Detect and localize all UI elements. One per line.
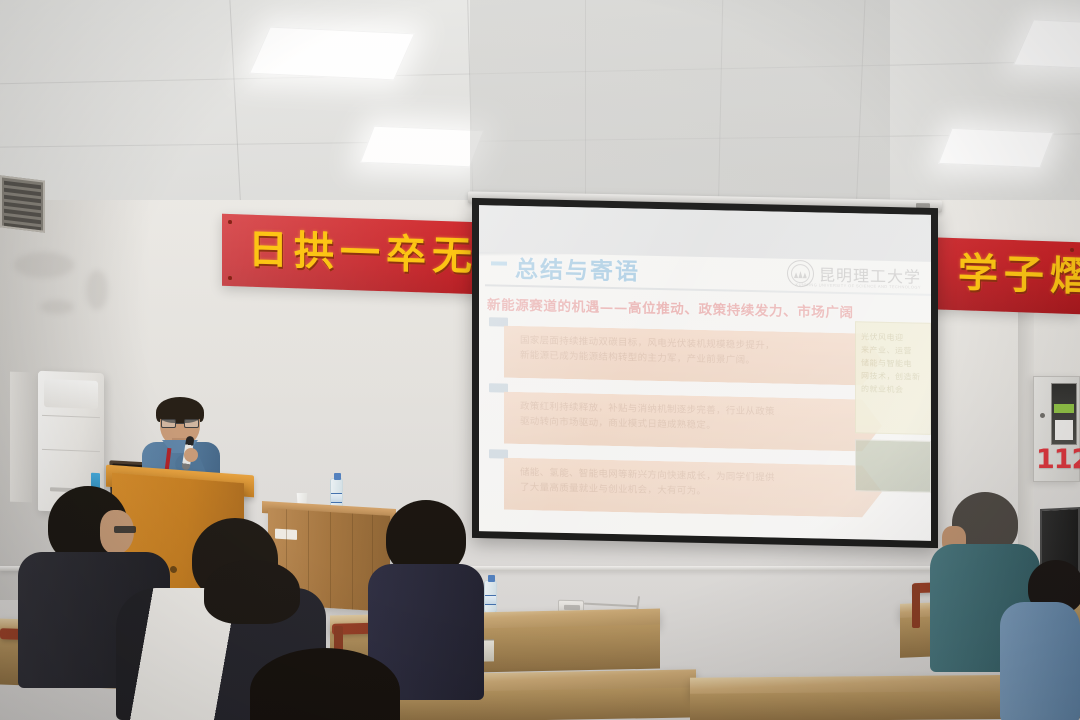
title-accent-dash xyxy=(491,261,507,265)
audience-far-right xyxy=(1000,560,1080,720)
bullet-tag-1 xyxy=(489,317,508,326)
side-note-line: 的就业机会 xyxy=(861,382,925,396)
room-number-label: 1122 xyxy=(1036,444,1080,475)
lecture-hall-scene: 1122 日拱一卒无有尽，功不唐捐终入海 学子熠熠生辉！ 总结与寄语 昆明理工大… xyxy=(0,0,1080,720)
alarm-knob-icon xyxy=(1040,413,1045,418)
ceiling xyxy=(0,0,1080,215)
slide-subtitle: 新能源赛道的机遇——高位推动、政策持续发力、市场广阔 xyxy=(487,293,931,323)
chair-post xyxy=(912,584,920,628)
slide-side-note: 光伏风电迎 来产业、运营 储能与智能电 网技术，创造新 的就业机会 xyxy=(855,321,931,435)
wall-vent-icon xyxy=(0,175,45,233)
water-bottle xyxy=(484,580,497,614)
bullet-chevron-1: 国家层面持续推动双碳目标，风电光伏装机规模稳步提升， 新能源已成为能源结构转型的… xyxy=(504,326,882,386)
bullet-tag-2 xyxy=(489,383,508,392)
bullet-tag-3 xyxy=(489,449,508,458)
projection-screen: 总结与寄语 昆明理工大学 KUNMING UNIVERSITY OF SCIEN… xyxy=(472,198,938,548)
alarm-display xyxy=(1051,383,1077,445)
bullet-chevron-3: 储能、氢能、智能电网等新兴方向快速成长，为同学们提供 了大量高质量就业与创业机会… xyxy=(504,458,882,518)
audience-bottom xyxy=(250,648,400,720)
bullet-chevron-2: 政策红利持续释放，补贴与消纳机制逐步完善，行业从政策 驱动转向市场驱动，商业模式… xyxy=(504,392,882,452)
ac-duct xyxy=(10,372,32,503)
eyeglasses-icon xyxy=(161,419,199,428)
presentation-slide: 总结与寄语 昆明理工大学 KUNMING UNIVERSITY OF SCIEN… xyxy=(479,205,931,541)
ceiling-light-2 xyxy=(360,126,484,168)
ceiling-light-1 xyxy=(249,27,415,81)
ceiling-light-4 xyxy=(938,128,1054,168)
slide-title: 总结与寄语 xyxy=(515,250,640,287)
ceiling-light-3 xyxy=(1013,19,1080,70)
slide-side-image xyxy=(855,439,931,493)
